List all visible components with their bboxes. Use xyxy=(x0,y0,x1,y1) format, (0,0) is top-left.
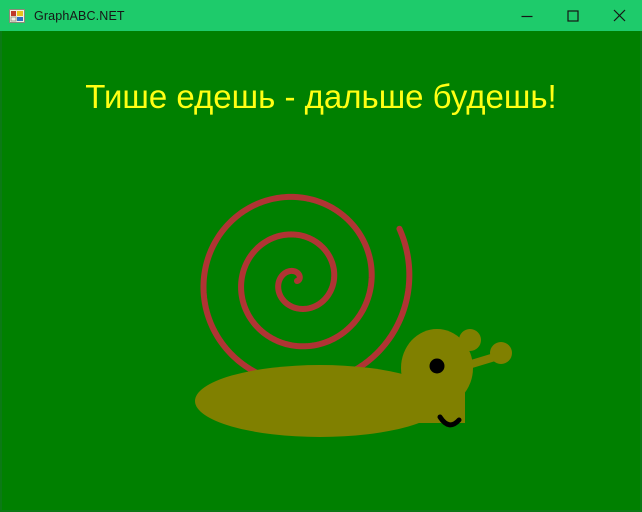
shell-spiral xyxy=(203,197,409,384)
window-border-left xyxy=(0,31,2,512)
title-bar-left-group: GraphABC.NET xyxy=(0,0,504,31)
app-icon xyxy=(9,8,25,24)
close-button[interactable] xyxy=(596,0,642,31)
window-title: GraphABC.NET xyxy=(34,9,125,23)
application-window: GraphABC.NET xyxy=(0,0,642,512)
minimize-button[interactable] xyxy=(504,0,550,31)
graphics-canvas[interactable]: Тише едешь - дальше будешь! xyxy=(0,31,642,512)
minimize-icon xyxy=(521,10,533,22)
title-bar[interactable]: GraphABC.NET xyxy=(0,0,642,31)
window-controls xyxy=(504,0,642,31)
page-title: Тише едешь - дальше будешь! xyxy=(0,77,642,117)
antenna-right-tip xyxy=(490,342,512,364)
maximize-icon xyxy=(567,10,579,22)
maximize-button[interactable] xyxy=(550,0,596,31)
snail-eye xyxy=(430,359,445,374)
close-icon xyxy=(613,9,626,22)
